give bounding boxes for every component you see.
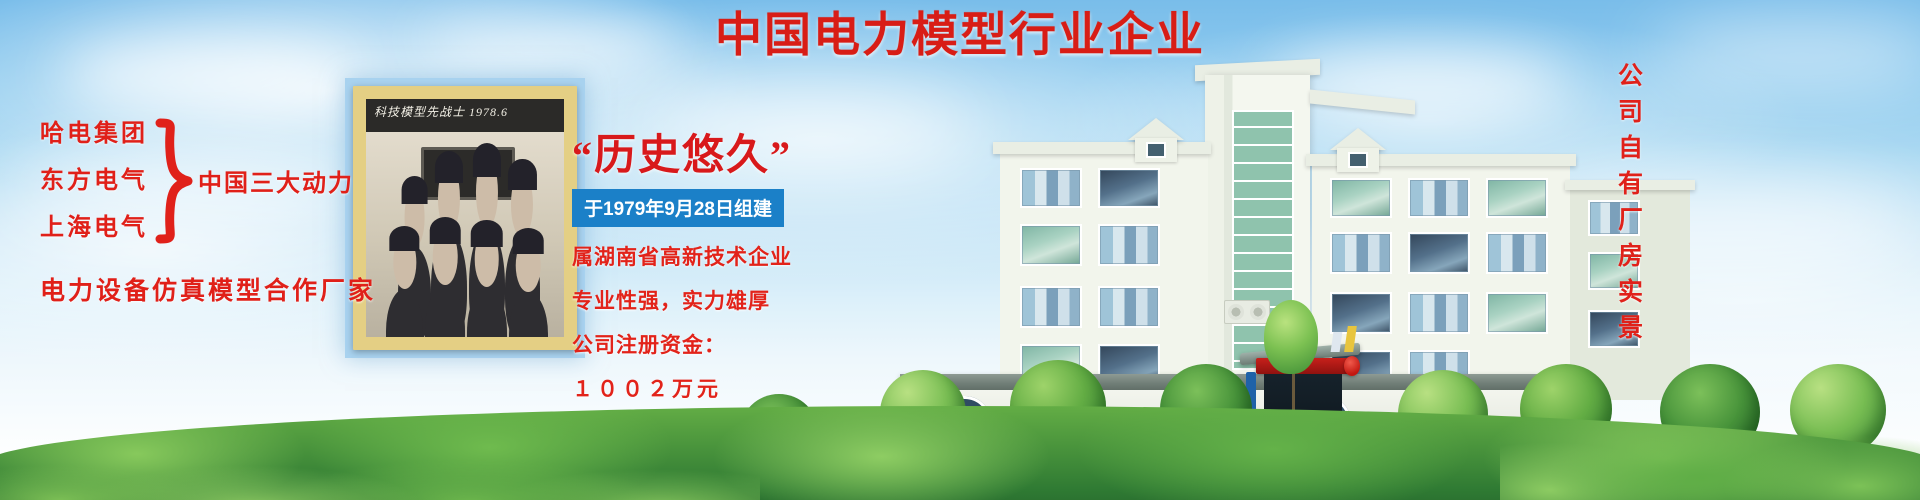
left-gable	[1128, 118, 1184, 140]
list-item: 东方电气	[40, 157, 148, 204]
foreground-vegetation	[0, 350, 1920, 500]
vertical-char: 司	[1618, 94, 1643, 130]
list-item: 哈电集团	[40, 110, 148, 157]
vertical-char: 房	[1618, 238, 1643, 274]
sapling-tree	[1264, 300, 1318, 374]
shrub	[1660, 364, 1760, 460]
cloud-decoration	[1500, 170, 1920, 280]
window	[1020, 168, 1082, 208]
building-right-wing	[1312, 160, 1570, 400]
quote-close-mark: ”	[770, 133, 792, 178]
vertical-char: 厂	[1618, 202, 1643, 238]
air-conditioner-unit	[1224, 300, 1270, 324]
vertical-banner	[1246, 372, 1256, 442]
window	[1098, 344, 1160, 386]
quote-text: 历史悠久	[594, 131, 770, 178]
warehouse-wall	[905, 390, 1555, 448]
warehouse-arch	[1415, 396, 1471, 442]
left-dormer	[1135, 138, 1177, 162]
building-left-wing	[1000, 148, 1208, 400]
photo-caption: 科技模型先战士 1978.6	[374, 103, 558, 120]
window	[1330, 232, 1392, 274]
window	[1098, 168, 1160, 208]
promo-banner: 中国电力模型行业企业 哈电集团 东方电气 上海电气 中国三大动力 电力设备仿真模…	[0, 0, 1920, 500]
history-quote: “历史悠久”	[572, 128, 822, 183]
warehouse-arch	[1055, 396, 1111, 442]
shrub	[1398, 370, 1488, 458]
vertical-char: 自	[1618, 130, 1643, 166]
detail-line: 专业性强，实力雄厚	[572, 285, 822, 315]
vertical-char: 公	[1618, 58, 1643, 94]
right-grass	[1500, 390, 1920, 500]
historical-photo-frame: 科技模型先战士 1978.6	[345, 78, 585, 358]
list-item: 上海电气	[40, 204, 148, 251]
three-powers-label: 中国三大动力	[198, 163, 354, 198]
shrub	[1790, 364, 1886, 456]
gate-canopy	[1240, 343, 1360, 365]
window	[1408, 178, 1470, 218]
vertical-char: 景	[1618, 310, 1643, 346]
shrub	[1520, 364, 1612, 454]
left-text-block: 哈电集团 东方电气 上海电气 中国三大动力 电力设备仿真模型合作厂家	[40, 110, 380, 307]
window	[1098, 224, 1160, 266]
hedge-row	[0, 406, 1920, 500]
shrub	[1160, 364, 1252, 454]
lantern-icon	[1344, 356, 1360, 376]
window	[1020, 286, 1082, 328]
partner-tagline: 电力设备仿真模型合作厂家	[40, 271, 380, 307]
historical-group-photo: 科技模型先战士 1978.6	[366, 99, 564, 337]
tower-canopy	[1310, 89, 1415, 114]
window	[1408, 232, 1470, 274]
stair-tower	[1205, 75, 1310, 400]
flag-icon	[1344, 326, 1357, 352]
detail-line: 属湖南省高新技术企业	[572, 241, 822, 271]
window	[1330, 178, 1392, 218]
three-powers-row: 哈电集团 东方电气 上海电气 中国三大动力	[40, 110, 380, 251]
window	[1408, 350, 1470, 392]
gate-opening	[1264, 374, 1342, 454]
warehouse-arch	[935, 396, 991, 442]
window	[1408, 292, 1470, 334]
photo-gold-frame: 科技模型先战士 1978.6	[353, 86, 577, 350]
vertical-char: 实	[1618, 274, 1643, 310]
registered-capital-value: １００２万元	[572, 373, 822, 403]
quote-open-mark: “	[572, 133, 594, 178]
window	[1020, 344, 1082, 386]
window	[1098, 286, 1160, 328]
detail-line: 公司注册资金：	[572, 329, 822, 359]
page-title: 中国电力模型行业企业	[0, 6, 1920, 64]
vertical-caption: 公 司 自 有 厂 房 实 景	[1618, 58, 1643, 346]
left-wing-roof	[993, 142, 1211, 154]
right-wing-roof	[1306, 154, 1576, 166]
founding-date-badge: 于1979年9月28日组建	[572, 189, 784, 227]
window	[1486, 292, 1548, 334]
window	[1330, 292, 1392, 334]
window	[1020, 224, 1082, 266]
flag-icon	[1331, 332, 1343, 352]
warehouse-arch	[1175, 396, 1231, 442]
tree-trunk	[1292, 332, 1295, 410]
warehouse-roof	[900, 374, 1560, 392]
tower-glass	[1232, 110, 1294, 370]
middle-text-block: “历史悠久” 于1979年9月28日组建 属湖南省高新技术企业 专业性强，实力雄…	[572, 128, 822, 403]
company-list: 哈电集团 东方电气 上海电气	[40, 110, 148, 251]
shrub	[880, 370, 966, 456]
window	[1486, 232, 1548, 274]
window	[1330, 350, 1392, 392]
curly-brace-icon	[154, 117, 196, 245]
left-grass	[0, 430, 760, 500]
shrub	[740, 394, 818, 470]
window	[1486, 178, 1548, 218]
shrub	[1010, 360, 1106, 452]
vertical-char: 有	[1618, 166, 1643, 202]
right-dormer	[1337, 148, 1379, 172]
tree-trunk	[952, 392, 955, 450]
right-gable	[1330, 128, 1386, 150]
warehouse-arch	[1295, 396, 1351, 442]
gate-signboard	[1256, 358, 1352, 374]
